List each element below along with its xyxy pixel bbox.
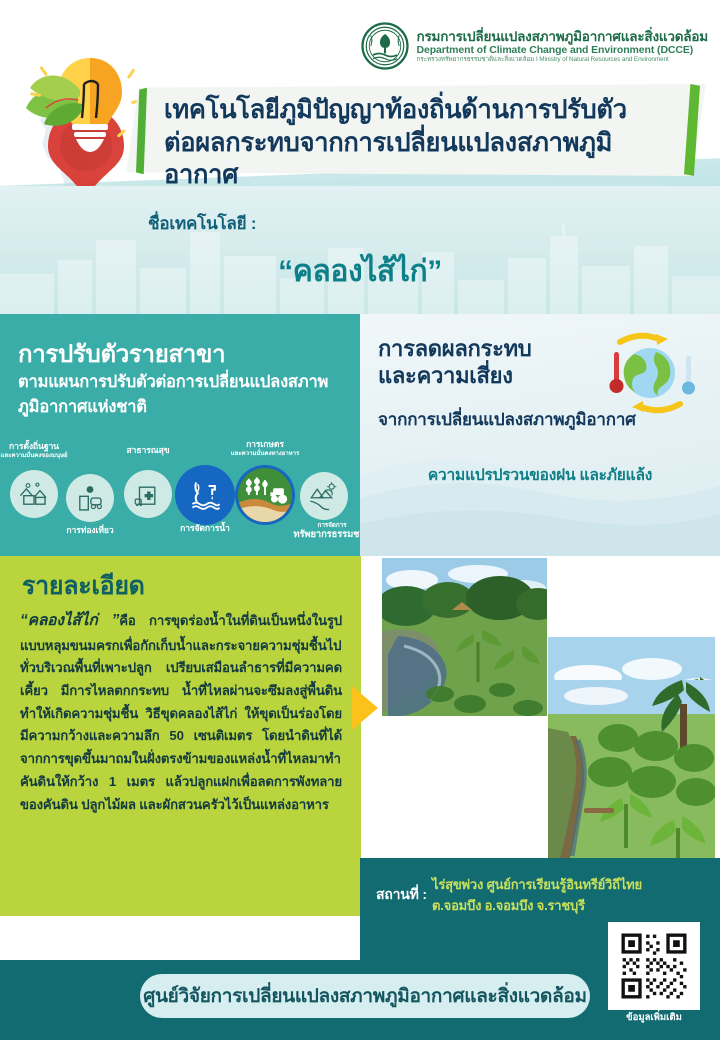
sector-label-water-management: การจัดการน้ำ: [145, 524, 265, 534]
technology-label: ชื่อเทคโนโลยี :: [148, 210, 256, 237]
natural-resources-icon: [300, 472, 348, 520]
location-value: ไร่สุขพ่วง ศูนย์การเรียนรู้อินทรีย์วิถีไ…: [432, 874, 682, 916]
wave-decoration: [360, 442, 720, 556]
department-name-en: Department of Climate Change and Environ…: [417, 44, 708, 56]
sector-item-tourism[interactable]: การท่องเที่ยว: [66, 474, 114, 522]
settlement-icon: [10, 470, 58, 518]
sector-item-settlement[interactable]: การตั้งถิ่นฐาน และความมั่นคงของมนุษย์: [10, 470, 58, 518]
adaptation-subheading: ตามแผนการปรับตัวต่อการเปลี่ยนแปลงสภาพภูม…: [18, 370, 348, 420]
sector-label-tourism: การท่องเที่ยว: [30, 526, 150, 536]
poster-header: กรมการเปลี่ยนแปลงสภาพภูมิอากาศและสิ่งแวด…: [0, 0, 720, 200]
sector-icons-row: การตั้งถิ่นฐาน และความมั่นคงของมนุษย์: [0, 440, 360, 548]
location-line1: ไร่สุขพ่วง ศูนย์การเรียนรู้อินทรีย์วิถีไ…: [432, 874, 682, 895]
adaptation-panel: การปรับตัวรายสาขา ตามแผนการปรับตัวต่อการ…: [0, 314, 360, 556]
details-panel: รายละเอียด “คลองไส้ไก่ ”คือ การขุดร่องน้…: [0, 556, 360, 916]
location-line2: ต.จอมบึง อ.จอมบึง จ.ราชบุรี: [432, 895, 682, 916]
mitigation-heading-line2: และความเสี่ยง: [378, 363, 588, 390]
details-quote: “คลองไส้ไก่ ”: [20, 612, 119, 629]
photo-orchard-channel: [548, 680, 715, 858]
globe-thermometer-icon: [594, 330, 702, 416]
sector-label-public-health: สาธารณสุข: [88, 446, 208, 456]
sector-label-natural-resources: การจัดการ ทรัพยากรธรรมชาติ: [272, 522, 360, 540]
page-title: เทคโนโลยีภูมิปัญญาท้องถิ่นด้านการปรับตัว…: [164, 94, 676, 192]
sector-item-natural-resources[interactable]: การจัดการ ทรัพยากรธรรมชาติ: [300, 472, 348, 520]
location-label: สถานที่ :: [376, 884, 427, 906]
department-name-th: กรมการเปลี่ยนแปลงสภาพภูมิอากาศและสิ่งแวด…: [417, 29, 708, 45]
sector-label-agriculture: การเกษตร และความมั่นคงทางอาหาร: [205, 440, 325, 457]
sector-item-public-health[interactable]: สาธารณสุข: [124, 470, 172, 518]
details-heading: รายละเอียด: [22, 566, 145, 606]
public-health-icon: [124, 470, 172, 518]
details-panel-strip: [345, 556, 361, 916]
sector-item-water-management[interactable]: การจัดการน้ำ: [178, 468, 232, 522]
poster-root: กรมการเปลี่ยนแปลงสภาพภูมิอากาศและสิ่งแวด…: [0, 0, 720, 1040]
thermometer-hot: [610, 352, 624, 393]
ministry-name: กระทรวงทรัพยากรธรรมชาติและสิ่งแวดล้อม I …: [417, 56, 708, 63]
water-management-icon: [178, 468, 232, 522]
thermometer-cold: [682, 356, 695, 395]
tourism-icon: [66, 474, 114, 522]
qr-code-icon[interactable]: [608, 922, 700, 1010]
footer-text: ศูนย์วิจัยการเปลี่ยนแปลงสภาพภูมิอากาศและ…: [143, 981, 587, 1011]
sector-item-agriculture[interactable]: การเกษตร และความมั่นคงทางอาหาร: [238, 468, 292, 522]
mitigation-heading: การลดผลกระทบ และความเสี่ยง: [378, 336, 588, 390]
main-title-banner: เทคโนโลยีภูมิปัญญาท้องถิ่นด้านการปรับตัว…: [126, 84, 706, 176]
mitigation-impact-text: ความแปรปรวนของฝน และภัยแล้ง: [360, 462, 720, 487]
page-title-line1: เทคโนโลยีภูมิปัญญาท้องถิ่นด้านการปรับตัว: [164, 94, 676, 127]
agriculture-icon: [238, 468, 292, 522]
details-body: “คลองไส้ไก่ ”คือ การขุดร่องน้ำในที่ดินเป…: [20, 608, 342, 816]
details-body-text: คือ การขุดร่องน้ำในที่ดินเป็นหนึ่งในรูปแ…: [20, 613, 342, 812]
mitigation-heading-line1: การลดผลกระทบ: [378, 336, 588, 363]
technology-name-band: ชื่อเทคโนโลยี : “คลองไส้ไก่”: [0, 186, 720, 314]
mitigation-panel: การลดผลกระทบ และความเสี่ยง จากการเปลี่ยน…: [360, 314, 720, 556]
sector-label-settlement: การตั้งถิ่นฐาน และความมั่นคงของมนุษย์: [0, 442, 94, 459]
department-branding: กรมการเปลี่ยนแปลงสภาพภูมิอากาศและสิ่งแวด…: [361, 22, 708, 70]
technology-name: “คลองไส้ไก่”: [0, 248, 720, 295]
footer-pill: ศูนย์วิจัยการเปลี่ยนแปลงสภาพภูมิอากาศและ…: [140, 974, 590, 1018]
page-title-line2: ต่อผลกระทบจากการเปลี่ยนแปลงสภาพภูมิอากาศ: [164, 127, 676, 192]
adaptation-heading: การปรับตัวรายสาขา: [18, 334, 225, 373]
photo-water-channel-banana: [382, 558, 547, 716]
arrow-right-icon: [352, 686, 378, 730]
qr-caption: ข้อมูลเพิ่มเติม: [608, 1010, 700, 1025]
dcce-seal-icon: [361, 22, 409, 70]
